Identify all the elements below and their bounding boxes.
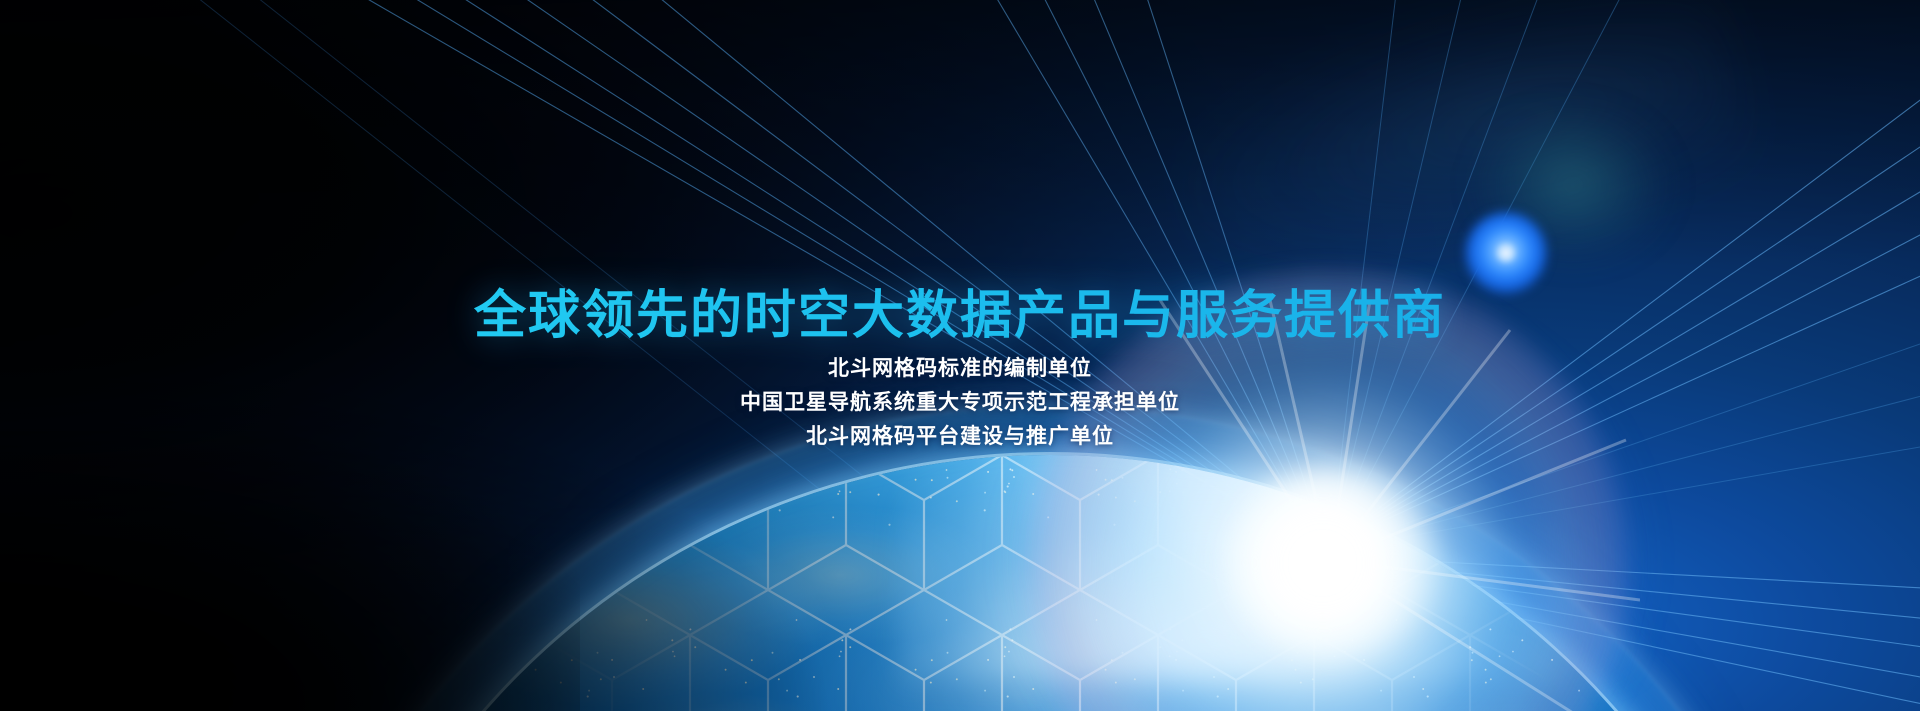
hero-banner: 全球领先的时空大数据产品与服务提供商 北斗网格码标准的编制单位 中国卫星导航系统… (0, 0, 1920, 711)
subtitle-list: 北斗网格码标准的编制单位 中国卫星导航系统重大专项示范工程承担单位 北斗网格码平… (0, 352, 1920, 454)
subtitle-line-3: 北斗网格码平台建设与推广单位 (0, 420, 1920, 454)
subtitle-line-1: 北斗网格码标准的编制单位 (0, 352, 1920, 386)
page-title: 全球领先的时空大数据产品与服务提供商 (0, 287, 1920, 345)
banner-content: 全球领先的时空大数据产品与服务提供商 北斗网格码标准的编制单位 中国卫星导航系统… (0, 0, 1920, 711)
subtitle-line-2: 中国卫星导航系统重大专项示范工程承担单位 (0, 386, 1920, 420)
